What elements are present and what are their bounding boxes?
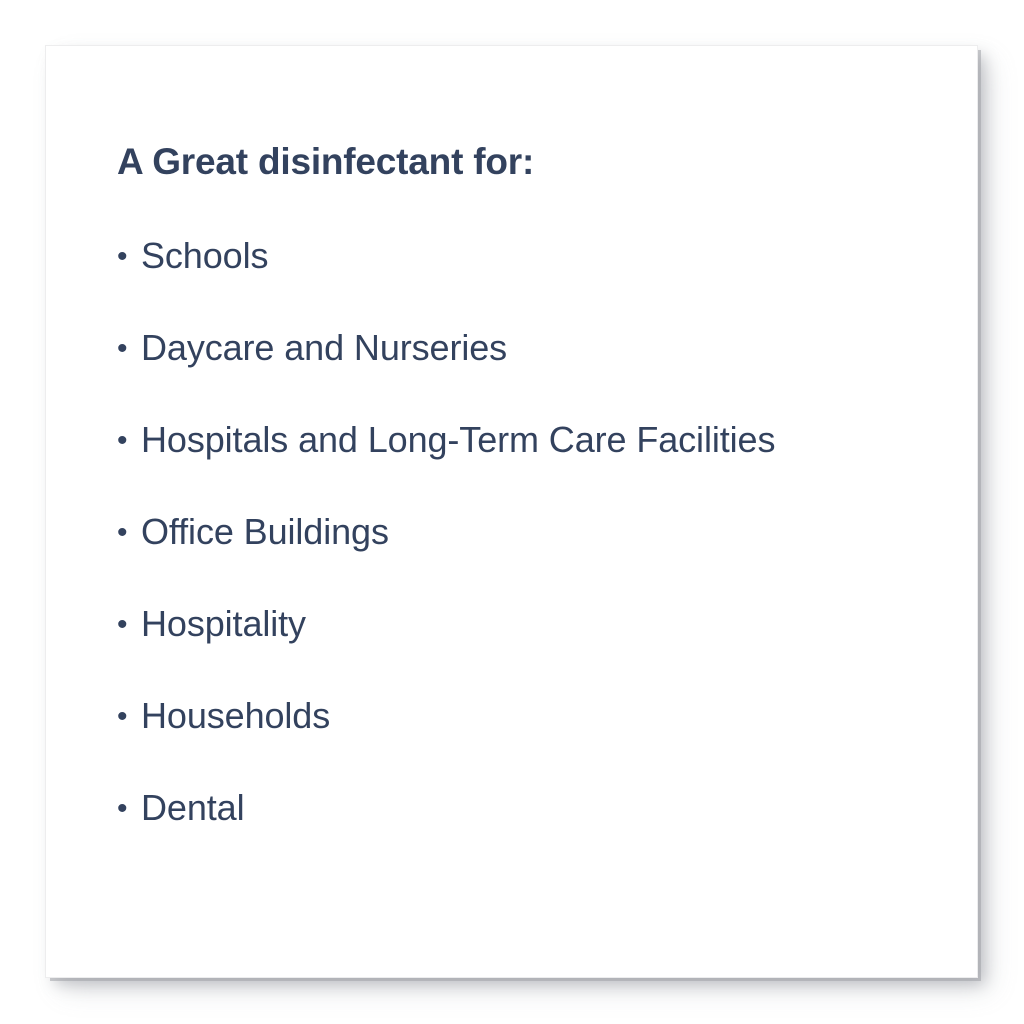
bullet-icon: • (117, 610, 141, 640)
card-content: A Great disinfectant for: • Schools • Da… (117, 141, 951, 826)
bullet-icon: • (117, 334, 141, 364)
bullet-icon: • (117, 426, 141, 456)
list-item-label: Households (141, 698, 330, 734)
bullet-icon: • (117, 702, 141, 732)
page-canvas: A Great disinfectant for: • Schools • Da… (0, 0, 1024, 1024)
list-item-label: Dental (141, 790, 244, 826)
list-item: • Hospitality (117, 606, 951, 642)
disinfectant-uses-card: A Great disinfectant for: • Schools • Da… (45, 45, 978, 978)
list-item: • Schools (117, 238, 951, 274)
use-case-list: • Schools • Daycare and Nurseries • Hosp… (117, 238, 951, 826)
bullet-icon: • (117, 242, 141, 272)
list-item-label: Daycare and Nurseries (141, 330, 507, 366)
bullet-icon: • (117, 518, 141, 548)
list-item-label: Hospitality (141, 606, 306, 642)
list-item-label: Schools (141, 238, 268, 274)
bullet-icon: • (117, 794, 141, 824)
list-item-label: Hospitals and Long-Term Care Facilities (141, 422, 775, 458)
list-item: • Daycare and Nurseries (117, 330, 951, 366)
list-item: • Households (117, 698, 951, 734)
list-item-label: Office Buildings (141, 514, 389, 550)
page-title: A Great disinfectant for: (117, 141, 951, 184)
list-item: • Office Buildings (117, 514, 951, 550)
list-item: • Hospitals and Long-Term Care Facilitie… (117, 422, 951, 458)
list-item: • Dental (117, 790, 951, 826)
